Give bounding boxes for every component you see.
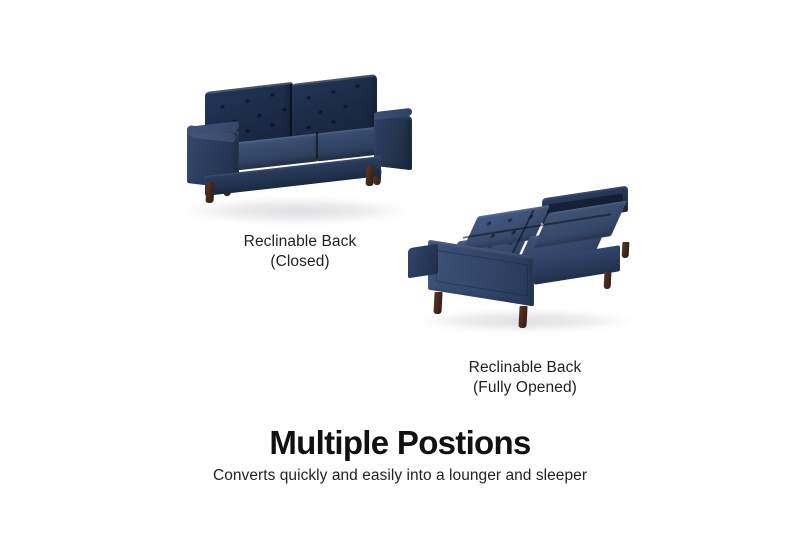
sofa-leg-front-left: [205, 182, 214, 203]
caption-line-2: (Closed): [195, 252, 405, 272]
seat-split-seam: [316, 132, 318, 159]
product-image-sofa-opened: [408, 192, 642, 332]
caption-sofa-opened: Reclinable Back (Fully Opened): [410, 358, 640, 398]
arm-stub-far-left: [408, 244, 438, 279]
bed-leg-front-right: [518, 306, 527, 328]
caption-line-2: (Fully Opened): [410, 378, 640, 398]
bed-leg-back-left: [604, 272, 612, 289]
caption-line-1: Reclinable Back: [410, 358, 640, 378]
feature-headline: Multiple Postions: [0, 424, 800, 462]
sofa-opened-illustration: [408, 192, 642, 332]
sofa-leg-front-right: [365, 166, 374, 186]
bed-leg-back-right: [622, 242, 630, 258]
caption-sofa-closed: Reclinable Back (Closed): [195, 232, 405, 272]
sofa-closed-illustration: [178, 82, 416, 222]
bed-leg-front-left: [433, 292, 442, 314]
product-feature-canvas: Reclinable Back (Closed): [0, 0, 800, 533]
product-image-sofa-closed: [178, 82, 416, 222]
backrest-split-seam: [290, 84, 292, 142]
caption-line-1: Reclinable Back: [195, 232, 405, 252]
feature-subheadline: Converts quickly and easily into a loung…: [0, 465, 800, 486]
